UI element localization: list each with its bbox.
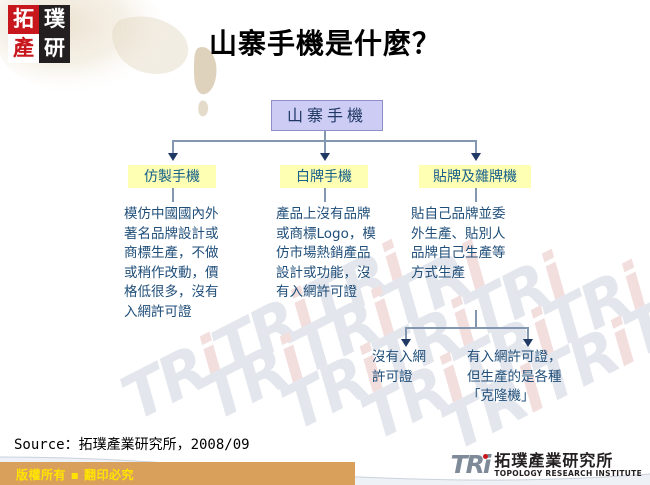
institute-name-en: TOPOLOGY RESEARCH INSTITUTE	[494, 470, 642, 478]
source-line: Source：拓璞產業研究所，2008/09	[14, 434, 250, 454]
logo-char-1: 拓	[8, 5, 39, 34]
connector-drop-branch-1	[172, 140, 174, 154]
institute-names: 拓璞產業研究所 TOPOLOGY RESEARCH INSTITUTE	[494, 453, 642, 478]
connector-stem-desc-3	[475, 188, 477, 202]
connector-bus-sub	[405, 327, 529, 329]
tri-institute-logo: TRi 拓璞產業研究所 TOPOLOGY RESEARCH INSTITUTE	[451, 452, 642, 477]
diagram-leaf-1: 沒有入網許可證	[372, 348, 434, 387]
copyright-bar: 版權所有 ▪ 翻印必究	[0, 462, 355, 485]
logo-char-3: 產	[8, 34, 39, 63]
logo-char-2: 璞	[39, 5, 70, 34]
source-organization: 拓璞產業研究所	[79, 437, 177, 453]
connector-sub-down	[475, 310, 477, 328]
logo-char-4: 研	[39, 34, 70, 63]
diagram-node-branch-3[interactable]: 貼牌及雜牌機	[419, 165, 531, 188]
source-label: Source：	[14, 437, 79, 453]
diagram-desc-branch-2: 產品上沒有品牌或商標Logo，模仿市場熱銷產品設計或功能，沒有入網許可證	[276, 205, 380, 303]
tri-wordmark: TRi	[451, 452, 490, 477]
arrowhead-sub-2	[523, 339, 533, 347]
copyright-text: 版權所有 ▪ 翻印必究	[16, 466, 134, 483]
arrowhead-branch-2	[320, 153, 330, 161]
diagram-node-branch-2[interactable]: 白牌手機	[280, 165, 368, 188]
connector-drop-branch-2	[324, 140, 326, 154]
arrowhead-sub-1	[401, 339, 411, 347]
diagram-desc-branch-3: 貼自己品牌並委外生產、貼別人品牌自己生產等方式生產	[411, 205, 515, 283]
diagram-node-root[interactable]: 山寨手機	[271, 100, 383, 131]
diagram-leaf-2: 有入網許可證，但生產的是各種「克隆機」	[467, 348, 571, 407]
tri-corner-logo: 拓 璞 產 研	[8, 5, 70, 63]
arrowhead-branch-3	[471, 153, 481, 161]
institute-name-cn: 拓璞產業研究所	[494, 453, 642, 469]
slide-title: 山寨手機是什麼？	[0, 22, 650, 62]
connector-drop-branch-3	[475, 140, 477, 154]
diagram-node-branch-1[interactable]: 仿製手機	[128, 165, 216, 188]
connector-stem-desc-2	[324, 188, 326, 202]
diagram-desc-branch-1: 模仿中國國內外著名品牌設計或商標生產，不做或稍作改動，價格低很多，沒有入網許可證	[124, 205, 227, 322]
slide-canvas: TRiTRiTRi TRiTRiTRi TRiTRiTRi TRiTRiTRi …	[0, 0, 650, 485]
source-date: ，2008/09	[177, 437, 250, 453]
connector-stem-desc-1	[172, 188, 174, 202]
arrowhead-branch-1	[168, 153, 178, 161]
